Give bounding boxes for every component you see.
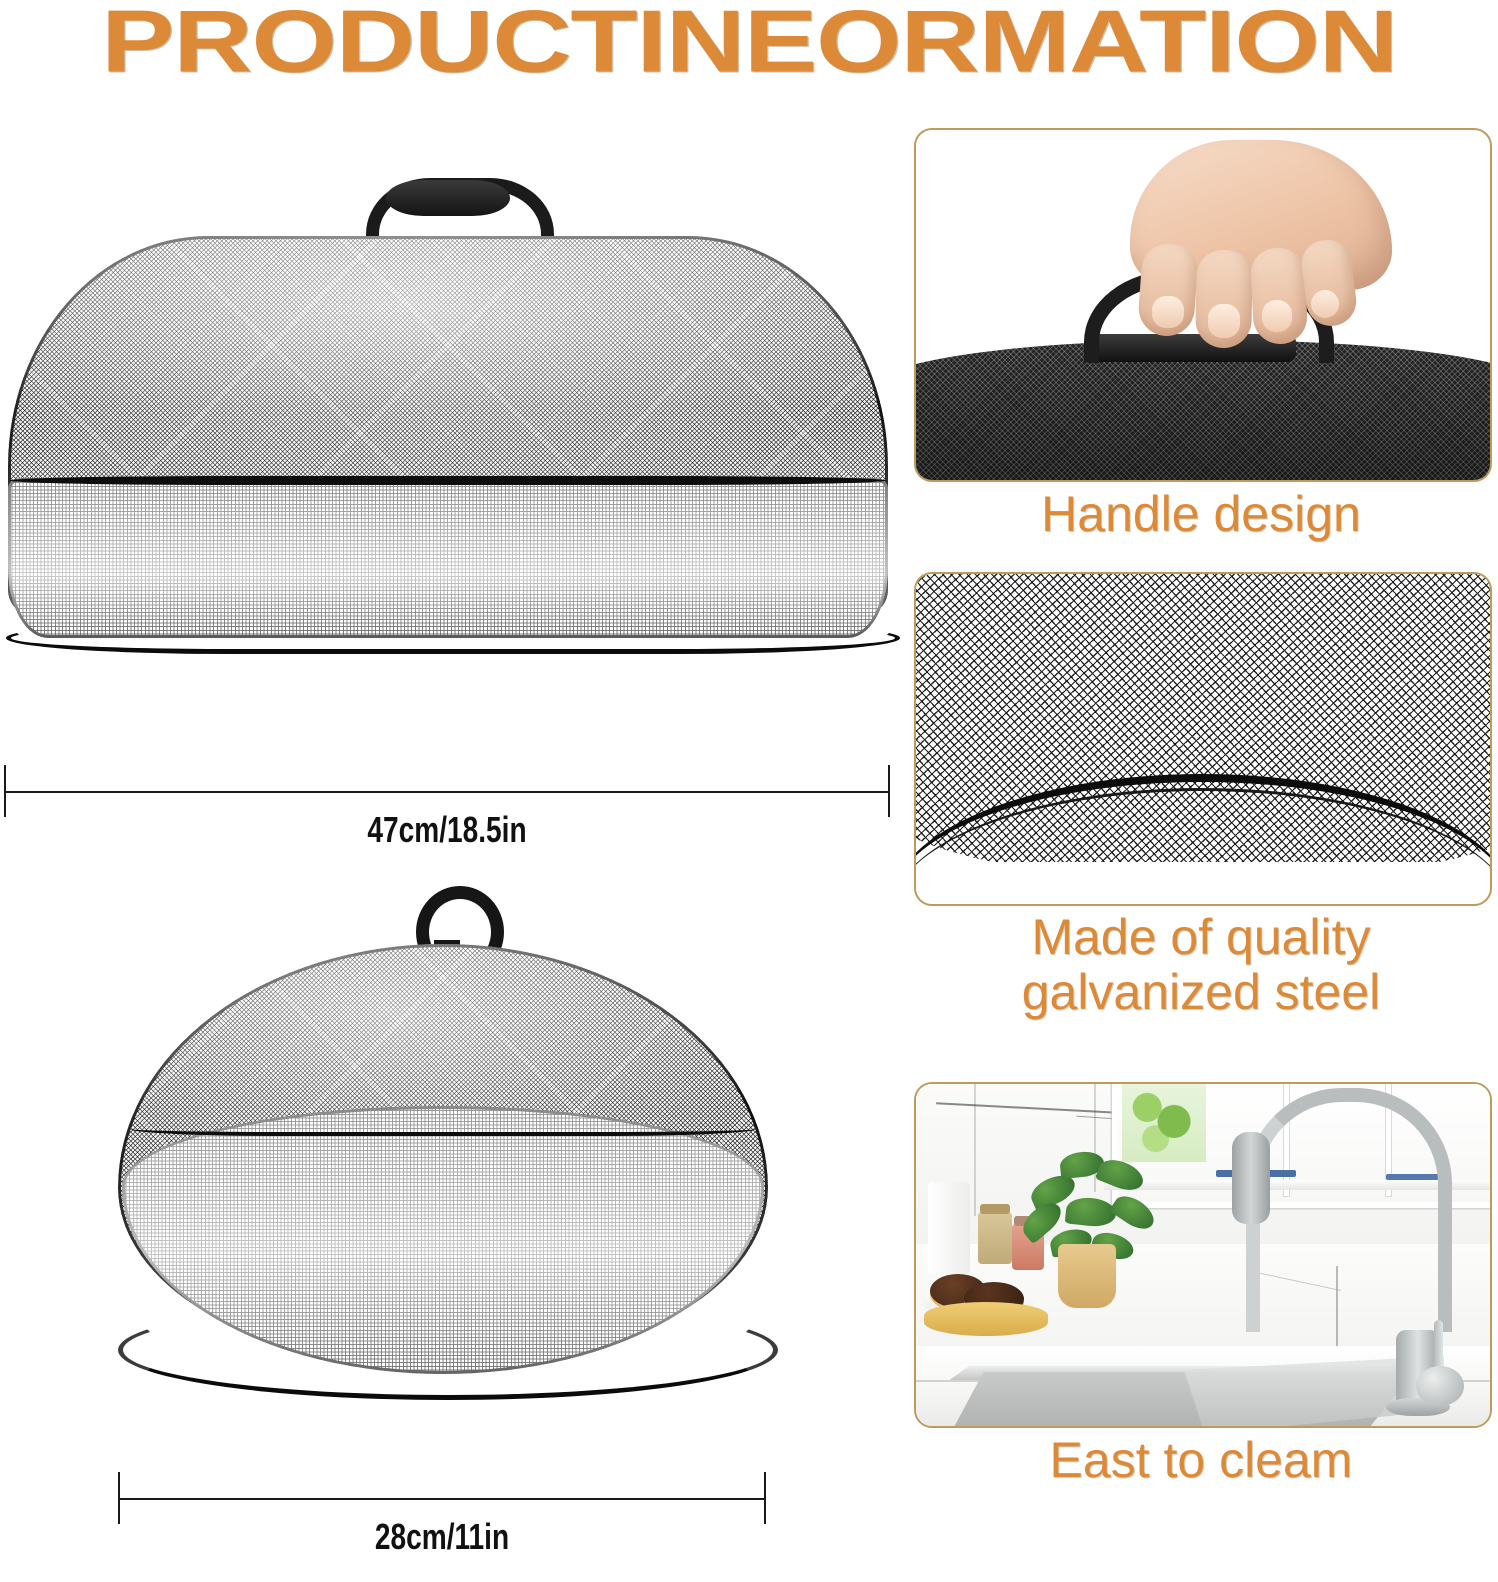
cover-skirt-mesh bbox=[8, 478, 888, 638]
fingernail-3 bbox=[1262, 300, 1292, 332]
dimension-width-product-2: 28cm/11in bbox=[118, 1472, 766, 1582]
product-round-cover bbox=[0, 870, 905, 1410]
dimension-bar bbox=[4, 791, 890, 793]
leaf bbox=[1065, 1195, 1118, 1228]
product-images-column: 47cm/18.5in bbox=[0, 110, 905, 1500]
feature-callouts-column: Handle design Made of quality galvanized… bbox=[914, 0, 1498, 1500]
feature-galvanized-steel: Made of quality galvanized steel bbox=[914, 572, 1488, 902]
potted-plant-icon bbox=[1016, 1142, 1162, 1260]
cover-mid-band bbox=[10, 476, 886, 485]
feature-2-photo-frame bbox=[914, 572, 1492, 906]
product-1-stage bbox=[0, 160, 905, 720]
faucet-knob bbox=[1416, 1366, 1464, 1406]
handle-grip bbox=[386, 180, 510, 216]
feature-caption: Made of quality galvanized steel bbox=[914, 910, 1488, 1020]
feature-1-photo-frame bbox=[914, 128, 1492, 482]
dimension-label: 47cm/18.5in bbox=[101, 809, 792, 851]
fingernail-4 bbox=[1311, 290, 1339, 318]
fingernail-1 bbox=[1152, 296, 1184, 328]
feature-3-photo-frame bbox=[914, 1082, 1492, 1428]
fingernail-2 bbox=[1208, 304, 1240, 338]
product-rectangular-cover bbox=[0, 160, 905, 720]
product-information-infographic: PRODUCTINEORMATION bbox=[0, 0, 1498, 1500]
dimension-width-product-1: 47cm/18.5in bbox=[4, 765, 890, 875]
paper-towel-roll bbox=[928, 1182, 970, 1274]
jar-lid bbox=[980, 1204, 1010, 1214]
feature-caption: East to cleam bbox=[914, 1432, 1488, 1488]
round-bottom-rim bbox=[118, 1300, 778, 1400]
skirt-highlight bbox=[8, 478, 888, 638]
faucet-arc bbox=[1246, 1088, 1452, 1332]
cover-bottom-rim bbox=[6, 622, 900, 654]
faucet-spray-head bbox=[1232, 1132, 1270, 1224]
feature-handle-design: Handle design bbox=[914, 128, 1488, 478]
leaf bbox=[1109, 1190, 1159, 1235]
round-mid-band bbox=[130, 1122, 756, 1136]
feature-easy-to-clean: East to cleam bbox=[914, 1082, 1488, 1424]
spice-jar bbox=[978, 1212, 1012, 1264]
hand-icon bbox=[1112, 140, 1412, 360]
wooden-board bbox=[924, 1302, 1048, 1336]
kitchen-sink-photo bbox=[916, 1084, 1490, 1426]
dimension-label: 28cm/11in bbox=[189, 1516, 694, 1558]
plant-pot bbox=[1058, 1244, 1116, 1308]
product-2-stage bbox=[0, 870, 905, 1410]
feature-caption: Handle design bbox=[914, 486, 1488, 542]
